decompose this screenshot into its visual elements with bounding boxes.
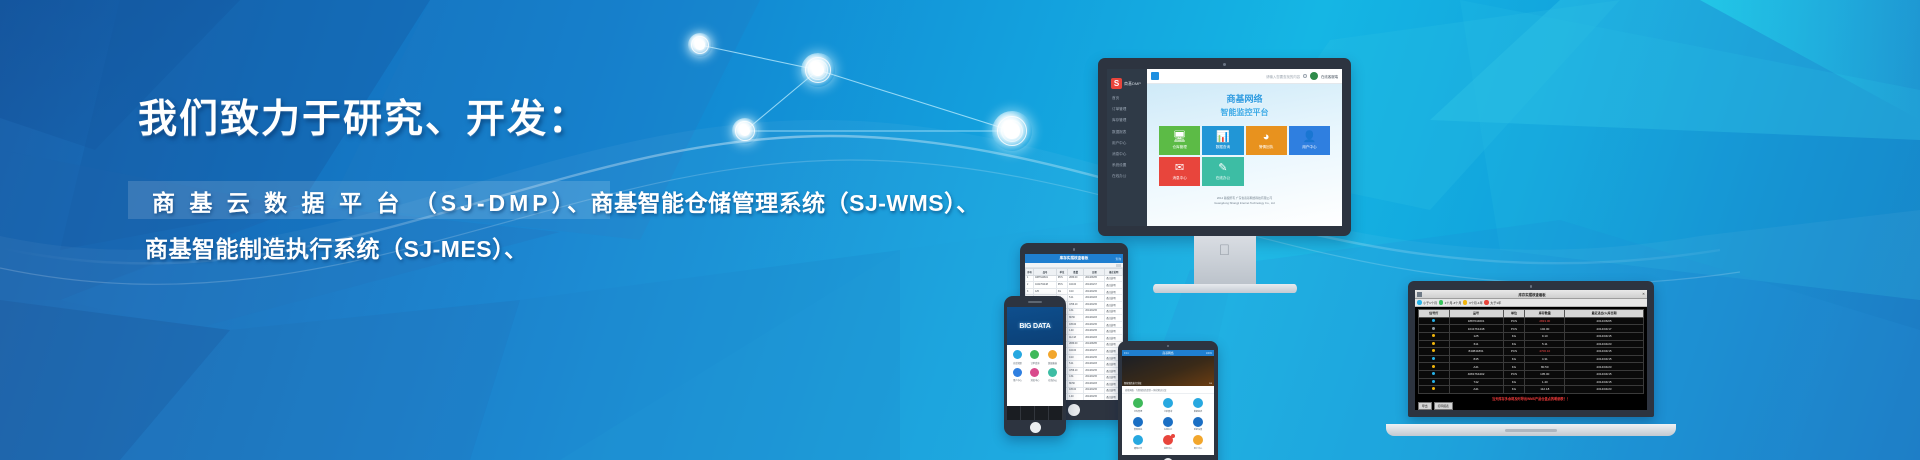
cell: 105.00: [1068, 321, 1084, 328]
cell-date: 2014/04/23: [1565, 386, 1644, 394]
tablet-2-hero[interactable]: 智能制造执行系统 1/6: [1122, 356, 1214, 386]
cell: PCS: [1056, 282, 1067, 289]
cell-qty: 102.00: [1525, 325, 1565, 333]
app-label: 系统设置: [1194, 428, 1202, 431]
tile-label: 仓库管理: [1172, 145, 1186, 150]
legend-label-1: 小于1个月: [1423, 300, 1437, 305]
cell: 备注说明: [1105, 308, 1123, 315]
cell: 2014/04/15: [1084, 394, 1105, 400]
cell-unit: KG: [1503, 355, 1525, 363]
cell: 102.00: [1068, 348, 1084, 355]
cell-unit: KG: [1503, 332, 1525, 340]
phone-app-4[interactable]: 消息中心: [1028, 368, 1043, 383]
window-title: 库存实摆核查看板: [1422, 292, 1642, 297]
tab-icon-3[interactable]: [1035, 406, 1049, 420]
tablet-2-app-grid: 仓库管理 订单查询 数据报表 警情回执 在线办公: [1122, 394, 1214, 454]
table-header-row: 信号灯 品号 单位 库存数量 最近进出/入库日期: [1419, 310, 1644, 318]
cell-date: 2014/04/23: [1565, 363, 1644, 371]
app-icon: [1048, 368, 1057, 377]
table-row[interactable]: 1887644601 PCS 2833.00 2014/06/05: [1419, 317, 1644, 325]
phone-home-button[interactable]: [1030, 422, 1041, 433]
laptop-base-notch: [1505, 429, 1557, 433]
app-label: 通知公告: [1134, 447, 1142, 450]
tile-label: 数据查询: [1216, 145, 1230, 150]
tablet-camera-icon: [1073, 248, 1076, 251]
tile-online-office[interactable]: ✎ 在线办公: [1202, 157, 1243, 186]
tablet-title: 库存实摆核查看板: [1060, 256, 1089, 261]
cell-date: 2014/04/23: [1565, 340, 1644, 348]
tab-icon-1[interactable]: [1007, 406, 1021, 420]
cell: 2014/04/15: [1084, 288, 1105, 295]
app-label: 订单查询: [1031, 361, 1040, 365]
cell: 备注说明: [1105, 282, 1123, 289]
cell: 9.10: [1068, 288, 1084, 295]
sidebar-item-3[interactable]: 数据报表: [1107, 127, 1147, 138]
window-titlebar: 库存实摆核查看板 ✕: [1415, 290, 1647, 299]
cell-unit: KG: [1503, 378, 1525, 386]
cell-unit: PCS: [1503, 370, 1525, 378]
cell: 4706.10: [1068, 367, 1084, 374]
dashboard-footer: 2014 版权所有 广东省商基网络科技有限公司 Guangdong Shangj…: [1159, 186, 1330, 210]
table-row[interactable]: 1041761448 PCS 102.00 2014/04/17: [1419, 325, 1644, 333]
inventory-table: 信号灯 品号 单位 库存数量 最近进出/入库日期 18: [1418, 309, 1644, 394]
col-1: 品号: [1034, 269, 1057, 276]
col-unit: 单位: [1503, 310, 1525, 318]
cell: 备注说明: [1105, 334, 1123, 341]
battery-label: 100%: [1206, 352, 1212, 355]
cell-date: 2014/06/05: [1565, 317, 1644, 325]
cell: 5.11: [1068, 361, 1084, 368]
table-row[interactable]: 845 KG 4.31 2014/04/15: [1419, 355, 1644, 363]
cell: 2014/04/23: [1084, 295, 1105, 302]
cell: PCS: [1056, 275, 1067, 282]
cell-code: A41: [1449, 386, 1503, 394]
tile-label: 警情回执: [1259, 145, 1273, 150]
table-header-row: 序号 品号 单位 数量 日期 备注说明: [1026, 269, 1123, 276]
phone-app-5[interactable]: 在线办公: [1045, 368, 1060, 383]
sidebar-item-6[interactable]: 系统设置: [1107, 160, 1147, 171]
window-toolbar: 小于1个月 1个月-3个月 3个月-1年 大于1年: [1415, 299, 1647, 307]
search-input[interactable]: 请输入您要查找的内容: [1266, 74, 1300, 79]
laptop-lid: 库存实摆核查看板 ✕ 小于1个月 1个月-3个月 3个月-1年 大于1年: [1408, 281, 1654, 417]
cell: 2014/04/23: [1084, 361, 1105, 368]
table-row[interactable]: 125 KG 9.10 2014/04/15: [1419, 332, 1644, 340]
cell: 2014/04/15: [1084, 328, 1105, 335]
edit-icon: ✎: [1218, 163, 1227, 174]
cell: 4.31: [1068, 374, 1084, 381]
phone-app-2[interactable]: 数据报表: [1045, 350, 1060, 365]
cell-light: [1419, 370, 1450, 378]
tablet-2-screen: 9:41 商基网络 100% 智能制造执行系统 1/6 商基网络 · 为智能制造…: [1122, 350, 1214, 455]
phone-app-0[interactable]: 仓库管理: [1010, 350, 1025, 365]
footer-line-2: Guangdong Shangji Internet Technology Co…: [1159, 201, 1330, 206]
app-label: 仓库管理: [1134, 410, 1142, 413]
cell-light: [1419, 317, 1450, 325]
legend-dot-4: [1484, 300, 1489, 305]
laptop-buttons: 导出 打印报表: [1415, 402, 1647, 410]
imac-camera-icon: [1223, 63, 1226, 66]
tablet-2-title: 商基网络: [1162, 351, 1173, 355]
col-0: 序号: [1026, 269, 1034, 276]
tile-label: 消息中心: [1172, 176, 1186, 181]
cell: 2014/04/15: [1084, 301, 1105, 308]
tablet-2-camera-icon: [1167, 345, 1169, 347]
cell-code: 1887644601: [1449, 317, 1503, 325]
cell: 5.11: [1068, 295, 1084, 302]
hero-banner: 我们致力于研究、开发： 商 基 云 数 据 平 台 （SJ-DMP）、商基智能仓…: [0, 0, 1920, 460]
app-label: 订单查询: [1164, 410, 1172, 413]
cell: 2014/04/15: [1084, 374, 1105, 381]
cell: 备注说明: [1105, 328, 1123, 335]
apple-logo-icon: : [1219, 244, 1231, 258]
legend-dot-3: [1463, 300, 1468, 305]
cell: 102.00: [1068, 282, 1084, 289]
cell: 4.31: [1068, 308, 1084, 315]
cell: 2014/04/15: [1084, 367, 1105, 374]
table-row[interactable]: A41 KG 80.50 2014/04/23: [1419, 363, 1644, 371]
app-label: 消息中心: [1031, 378, 1040, 382]
app-icon: [1133, 398, 1143, 408]
app-icon: [1013, 368, 1022, 377]
cell-qty: 5.11: [1525, 340, 1565, 348]
phone-app-1[interactable]: 订单查询: [1028, 350, 1043, 365]
dashboard-main: 请输入您要查找的内容 在线客服端 商基网络 智能监控平台 🖥 仓库管理: [1147, 69, 1342, 226]
cell: 1.40: [1068, 328, 1084, 335]
app-label: 数据报表: [1048, 361, 1057, 365]
app-grid-icon[interactable]: [1151, 72, 1159, 80]
cell-unit: PCS: [1503, 325, 1525, 333]
cell: 105.00: [1068, 387, 1084, 394]
col-3: 数量: [1068, 269, 1084, 276]
cell: 2833.00: [1068, 341, 1084, 348]
app-icon: [1133, 417, 1143, 427]
cell-qty: 9.10: [1525, 332, 1565, 340]
laptop-camera-icon: [1530, 285, 1533, 288]
cell-code: A41: [1449, 363, 1503, 371]
app-icon: [1133, 435, 1143, 445]
tablet-2-app-8[interactable]: 用户中心: [1185, 435, 1211, 450]
cell-unit: PCS: [1503, 317, 1525, 325]
filter-icon[interactable]: [1116, 264, 1121, 267]
legend-dot-1: [1417, 300, 1422, 305]
phone-hero-title: BIG DATA: [1019, 323, 1050, 330]
banner-text-block: 我们致力于研究、开发： 商 基 云 数 据 平 台 （SJ-DMP）、商基智能仓…: [0, 0, 1000, 460]
tab-icon-4[interactable]: [1049, 406, 1063, 420]
tablet-2-note: 商基网络 · 为智能制造提供一体化解决方案: [1122, 386, 1214, 394]
cell: 2014/04/15: [1084, 387, 1105, 394]
cell-light: [1419, 332, 1450, 340]
table-row[interactable]: 21041761448PCS102.002014/04/17备注说明: [1026, 282, 1123, 289]
cell-unit: PCS: [1503, 348, 1525, 356]
tile-message-center[interactable]: ✉ 消息中心: [1159, 157, 1200, 186]
sidebar-item-4[interactable]: 用户中心: [1107, 138, 1147, 149]
alert-message: 当天库存多余将及时导出WMS产品仓盘点的明细表！！: [1415, 394, 1647, 402]
tablet-query-button[interactable]: 查询: [1115, 257, 1121, 261]
col-5: 备注说明: [1105, 269, 1123, 276]
table-row[interactable]: 3125KG9.102014/04/15备注说明: [1026, 288, 1123, 295]
imac-stand-foot: [1153, 284, 1297, 293]
account-label[interactable]: 在线客服端: [1321, 74, 1338, 79]
phone-app-grid: 仓库管理 订单查询 数据报表 用户中心 消息中心: [1007, 345, 1063, 387]
legend-label-4: 大于1年: [1490, 300, 1501, 305]
page-title: 我们致力于研究、开发：: [138, 88, 589, 144]
cell-date: 2014/04/15: [1565, 355, 1644, 363]
tablet-2-app-0[interactable]: 仓库管理: [1125, 398, 1151, 413]
app-label: 在线办公: [1048, 378, 1057, 382]
inventory-table-wrap: 信号灯 品号 单位 库存数量 最近进出/入库日期 18: [1415, 307, 1647, 394]
legend-dot-2: [1439, 300, 1444, 305]
cell: 2014/04/23: [1084, 334, 1105, 341]
app-icon: [1030, 368, 1039, 377]
laptop-screen: 库存实摆核查看板 ✕ 小于1个月 1个月-3个月 3个月-1年 大于1年: [1415, 290, 1647, 410]
status-time: 9:41: [1124, 352, 1129, 355]
print-button[interactable]: 打印报表: [1434, 402, 1453, 410]
dashboard-title-1: 商基网络: [1159, 92, 1330, 105]
tile-alert[interactable]: ◕ 警情回执: [1246, 126, 1287, 155]
table-row[interactable]: 4081764402 PCS 105.00 2014/04/15: [1419, 370, 1644, 378]
table-row[interactable]: A41 KG 112.18 2014/04/23: [1419, 386, 1644, 394]
cell: 备注说明: [1105, 275, 1123, 282]
col-light: 信号灯: [1419, 310, 1450, 318]
app-icon: [1163, 417, 1173, 427]
imac-mockup: S 商基DMP 首页 订单管理 库存管理 数据报表 用户中心 消息中心 系统设置…: [1098, 58, 1351, 236]
cell: 2014/04/17: [1084, 348, 1105, 355]
app-label: 在线办公: [1164, 428, 1172, 431]
sidebar-item-0[interactable]: 首页: [1107, 93, 1147, 104]
phone-speaker-icon: [1028, 301, 1042, 303]
cell-qty: 105.00: [1525, 370, 1565, 378]
cell-qty: 2833.00: [1525, 317, 1565, 325]
col-date: 最近进出/入库日期: [1565, 310, 1644, 318]
cell-code: 742: [1449, 378, 1503, 386]
notification-badge-icon: [1171, 434, 1175, 438]
sidebar-item-1[interactable]: 订单管理: [1107, 104, 1147, 115]
dashboard-body: 商基网络 智能监控平台 🖥 仓库管理 📊 数据查询: [1147, 84, 1342, 226]
app-label: 警情回执: [1134, 428, 1142, 431]
cell-date: 2014/04/15: [1565, 348, 1644, 356]
cell: 80.50: [1068, 381, 1084, 388]
cell: 2014/04/15: [1084, 321, 1105, 328]
app-icon: [1193, 398, 1203, 408]
cell-date: 2014/04/17: [1565, 325, 1644, 333]
cell: 1.40: [1068, 394, 1084, 400]
cell: 备注说明: [1105, 321, 1123, 328]
sidebar-item-5[interactable]: 消息中心: [1107, 149, 1147, 160]
cell: 80.50: [1068, 315, 1084, 322]
cell-date: 2014/04/15: [1565, 370, 1644, 378]
phone-app-3[interactable]: 用户中心: [1010, 368, 1025, 383]
cell-code: 125: [1449, 332, 1503, 340]
table-row[interactable]: 611 KG 5.11 2014/04/23: [1419, 340, 1644, 348]
export-button[interactable]: 导出: [1418, 402, 1432, 410]
tile-data-query[interactable]: 📊 数据查询: [1202, 126, 1243, 155]
cell-qty: 112.18: [1525, 386, 1565, 394]
cell-light: [1419, 340, 1450, 348]
user-icon: 👤: [1303, 132, 1317, 143]
tablet-home-button[interactable]: [1068, 404, 1080, 416]
phone-screen: BIG DATA 仓库管理 订单查询 数据报表 用户中心: [1007, 307, 1063, 420]
col-qty: 库存数量: [1525, 310, 1565, 318]
cell: 4706.10: [1068, 301, 1084, 308]
tile-user-center[interactable]: 👤 用户中心: [1289, 126, 1330, 155]
col-code: 品号: [1449, 310, 1503, 318]
avatar[interactable]: [1310, 72, 1318, 80]
cell-qty: 1.40: [1525, 378, 1565, 386]
table-row[interactable]: 11887644601PCS2833.002014/06/05备注说明: [1026, 275, 1123, 282]
cell: 2833.00: [1068, 275, 1084, 282]
table-row[interactable]: 843841861 PCS 4706.10 2014/04/15: [1419, 348, 1644, 356]
cell: 备注说明: [1105, 288, 1123, 295]
mail-icon: ✉: [1175, 163, 1184, 174]
app-label: 用户中心: [1013, 378, 1022, 382]
dashboard-tiles: 🖥 仓库管理 📊 数据查询 ◕ 警情回执: [1159, 126, 1330, 186]
legend-label-3: 3个月-1年: [1469, 300, 1483, 305]
cell-light: [1419, 348, 1450, 356]
cell-light: [1419, 378, 1450, 386]
cell: 112.18: [1068, 334, 1084, 341]
monitor-icon: 🖥: [1173, 132, 1187, 143]
app-icon: [1013, 350, 1022, 359]
imac-screen: S 商基DMP 首页 订单管理 库存管理 数据报表 用户中心 消息中心 系统设置…: [1107, 69, 1342, 226]
cell-light: [1419, 325, 1450, 333]
cell-light: [1419, 355, 1450, 363]
phone-hero: BIG DATA: [1007, 307, 1063, 345]
cell-unit: KG: [1503, 386, 1525, 394]
close-icon[interactable]: ✕: [1642, 292, 1645, 296]
app-label: 消息中心: [1164, 447, 1172, 450]
logo-mark-icon: S: [1111, 78, 1122, 89]
cell-unit: KG: [1503, 340, 1525, 348]
cell: 1887644601: [1034, 275, 1057, 282]
table-row[interactable]: 742 KG 1.40 2014/04/15: [1419, 378, 1644, 386]
dashboard-sidebar: S 商基DMP 首页 订单管理 库存管理 数据报表 用户中心 消息中心 系统设置…: [1107, 69, 1147, 226]
cell-qty: 80.50: [1525, 363, 1565, 371]
search-icon[interactable]: [1303, 74, 1307, 78]
product-line-1-part-b: 、商基智能仓储管理系统（SJ-WMS）、: [567, 190, 980, 216]
logo-name: 商基DMP: [1124, 81, 1141, 87]
app-label: 仓库管理: [1013, 361, 1022, 365]
chart-icon: 📊: [1216, 132, 1230, 143]
cell: 1: [1026, 275, 1034, 282]
tablet-appbar: 库存实摆核查看板 查询: [1025, 254, 1123, 263]
cell: 2014/06/05: [1084, 341, 1105, 348]
cell-date: 2014/04/15: [1565, 332, 1644, 340]
sidebar-item-7[interactable]: 在线办公: [1107, 171, 1147, 182]
cell-code: 845: [1449, 355, 1503, 363]
tab-icon-2[interactable]: [1021, 406, 1035, 420]
app-icon: [1163, 398, 1173, 408]
phone-tabbar: [1007, 406, 1063, 420]
cell: 备注说明: [1105, 315, 1123, 322]
product-line-1-part-a: 商 基 云 数 据 平 台 （SJ-DMP）: [152, 190, 567, 216]
tablet-2-app-6[interactable]: 通知公告: [1125, 435, 1151, 450]
cell-light: [1419, 363, 1450, 371]
cell-light: [1419, 386, 1450, 394]
legend-label-2: 1个月-3个月: [1445, 300, 1462, 305]
cell-code: 843841861: [1449, 348, 1503, 356]
app-icon: [1048, 350, 1057, 359]
hero-caption: 智能制造执行系统: [1124, 381, 1142, 385]
product-line-2: 商基智能制造执行系统（SJ-MES）、: [145, 230, 528, 264]
phone-mockup: BIG DATA 仓库管理 订单查询 数据报表 用户中心: [1004, 296, 1066, 436]
cell-qty: 4706.10: [1525, 348, 1565, 356]
cell-date: 2014/04/15: [1565, 378, 1644, 386]
tablet-2-app-5[interactable]: 系统设置: [1185, 417, 1211, 432]
tablet-2-app-2[interactable]: 数据报表: [1185, 398, 1211, 413]
cell: 3: [1026, 288, 1034, 295]
product-line-1: 商 基 云 数 据 平 台 （SJ-DMP）、商基智能仓储管理系统（SJ-WMS…: [152, 184, 980, 218]
tablet-2-app-3[interactable]: 警情回执: [1125, 417, 1151, 432]
tablet-2-app-7[interactable]: 消息中心: [1155, 435, 1181, 450]
cell: 2014/04/15: [1084, 308, 1105, 315]
cell: 125: [1034, 288, 1057, 295]
hero-pager: 1/6: [1209, 383, 1212, 385]
cell: 2014/04/23: [1084, 381, 1105, 388]
tile-warehouse[interactable]: 🖥 仓库管理: [1159, 126, 1200, 155]
app-label: 用户中心: [1194, 447, 1202, 450]
col-4: 日期: [1084, 269, 1105, 276]
device-mockups: S 商基DMP 首页 订单管理 库存管理 数据报表 用户中心 消息中心 系统设置…: [1010, 0, 1920, 460]
cell: 备注说明: [1105, 301, 1123, 308]
cell: 2014/04/23: [1084, 315, 1105, 322]
dashboard-topbar: 请输入您要查找的内容 在线客服端: [1147, 69, 1342, 84]
cell: 2014/04/17: [1084, 282, 1105, 289]
cell: 2: [1026, 282, 1034, 289]
cell: 2014/04/15: [1084, 354, 1105, 361]
tablet-2-mockup: 9:41 商基网络 100% 智能制造执行系统 1/6 商基网络 · 为智能制造…: [1118, 341, 1218, 460]
tile-label: 用户中心: [1302, 145, 1316, 150]
cell-qty: 4.31: [1525, 355, 1565, 363]
cell-code: 1041761448: [1449, 325, 1503, 333]
cell: 2014/06/05: [1084, 275, 1105, 282]
tablet-2-app-4[interactable]: 在线办公: [1155, 417, 1181, 432]
cell: 备注说明: [1105, 295, 1123, 302]
alert-icon: ◕: [1263, 132, 1270, 143]
tablet-2-app-1[interactable]: 订单查询: [1155, 398, 1181, 413]
cell-code: 611: [1449, 340, 1503, 348]
app-icon: [1193, 435, 1203, 445]
col-2: 单位: [1056, 269, 1067, 276]
sidebar-item-2[interactable]: 库存管理: [1107, 115, 1147, 126]
cell: 9.10: [1068, 354, 1084, 361]
cell-unit: KG: [1503, 363, 1525, 371]
cell: 1041761448: [1034, 282, 1057, 289]
tile-label: 在线办公: [1216, 176, 1230, 181]
dashboard-title-2: 智能监控平台: [1159, 107, 1330, 118]
dashboard-logo: S 商基DMP: [1107, 74, 1147, 93]
cell-code: 4081764402: [1449, 370, 1503, 378]
cell: KG: [1056, 288, 1067, 295]
app-label: 数据报表: [1194, 410, 1202, 413]
app-icon: [1030, 350, 1039, 359]
laptop-mockup: 库存实摆核查看板 ✕ 小于1个月 1个月-3个月 3个月-1年 大于1年: [1386, 281, 1676, 436]
app-icon: [1193, 417, 1203, 427]
